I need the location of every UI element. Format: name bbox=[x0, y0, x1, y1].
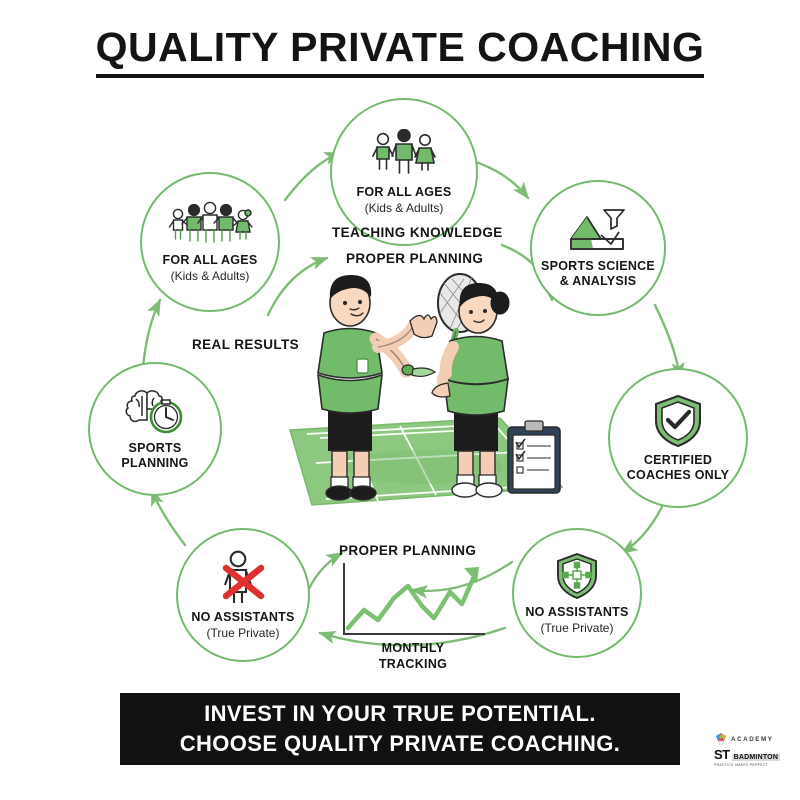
group-five-people-icon bbox=[167, 201, 253, 249]
logo-tagline: PRACTICE MAKES PERFECT bbox=[714, 763, 790, 767]
logo-st-text: ST bbox=[714, 747, 730, 762]
node-title: NO ASSISTANTS bbox=[191, 610, 294, 625]
label-proper-planning-bottom: PROPER PLANNING bbox=[339, 543, 476, 558]
node-subtitle: (True Private) bbox=[207, 626, 280, 640]
data-funnel-icon bbox=[567, 207, 629, 255]
shield-network-icon bbox=[553, 551, 601, 601]
node-subtitle: (Kids & Adults) bbox=[171, 269, 250, 283]
node-title: SPORTS bbox=[129, 441, 182, 456]
trend-line bbox=[348, 572, 476, 628]
node-title: CERTIFIED bbox=[644, 453, 712, 468]
call-to-action-banner: INVEST IN YOUR TRUE POTENTIAL. CHOOSE QU… bbox=[120, 693, 680, 765]
label-teaching-knowledge: TEACHING KNOWLEDGE bbox=[332, 225, 503, 240]
node-title: NO ASSISTANTS bbox=[525, 605, 628, 620]
node-title-line2: PLANNING bbox=[121, 456, 188, 471]
brand-logo: ACADEMY ST BADMINTON PRACTICE MAKES PERF… bbox=[714, 732, 790, 766]
arrow-certified-to-noassist bbox=[622, 498, 666, 553]
banner-line-2: CHOOSE QUALITY PRIVATE COACHING. bbox=[180, 729, 621, 759]
node-title: FOR ALL AGES bbox=[357, 185, 452, 200]
node-title-line2: & ANALYSIS bbox=[560, 274, 637, 289]
banner-line-1: INVEST IN YOUR TRUE POTENTIAL. bbox=[204, 699, 596, 729]
arrow-top-to-science bbox=[470, 160, 528, 198]
node-title-line2: COACHES ONLY bbox=[627, 468, 730, 483]
shuttlecock-icon bbox=[714, 732, 729, 746]
tracking-caption-line1: MONTHLY bbox=[338, 641, 488, 657]
monthly-tracking-chart bbox=[338, 562, 488, 640]
clipboard-icon bbox=[508, 421, 560, 493]
logo-bottom-row: ST BADMINTON bbox=[714, 747, 790, 762]
node-subtitle: (Kids & Adults) bbox=[365, 201, 444, 215]
node-for-all-ages-top[interactable]: FOR ALL AGES (Kids & Adults) bbox=[330, 98, 478, 246]
person-crossed-out-icon bbox=[214, 550, 272, 606]
node-sports-planning[interactable]: SPORTS PLANNING bbox=[88, 362, 222, 496]
tracking-caption-line2: TRACKING bbox=[338, 657, 488, 673]
logo-top-row: ACADEMY bbox=[714, 732, 790, 746]
cycle-diagram: FOR ALL AGES (Kids & Adults) SPORTS SCIE… bbox=[0, 0, 800, 800]
node-title: FOR ALL AGES bbox=[163, 253, 258, 268]
logo-badminton-text: BADMINTON bbox=[732, 754, 780, 761]
arrow-planning-to-allages bbox=[143, 300, 160, 367]
coach-student-illustration bbox=[250, 255, 570, 525]
three-people-icon bbox=[368, 129, 440, 181]
shuttlecock-icon bbox=[402, 365, 435, 376]
logo-academy-text: ACADEMY bbox=[731, 736, 773, 743]
brain-stopwatch-icon bbox=[122, 387, 188, 437]
node-no-assistants-right[interactable]: NO ASSISTANTS (True Private) bbox=[512, 528, 642, 658]
node-certified-coaches[interactable]: CERTIFIED COACHES ONLY bbox=[608, 368, 748, 508]
node-no-assistants-left[interactable]: NO ASSISTANTS (True Private) bbox=[176, 528, 310, 662]
arrow-noassist-left-to-planning bbox=[152, 490, 185, 545]
tracking-caption: MONTHLY TRACKING bbox=[338, 641, 488, 672]
shield-check-icon bbox=[651, 393, 705, 449]
node-subtitle: (True Private) bbox=[541, 621, 614, 635]
